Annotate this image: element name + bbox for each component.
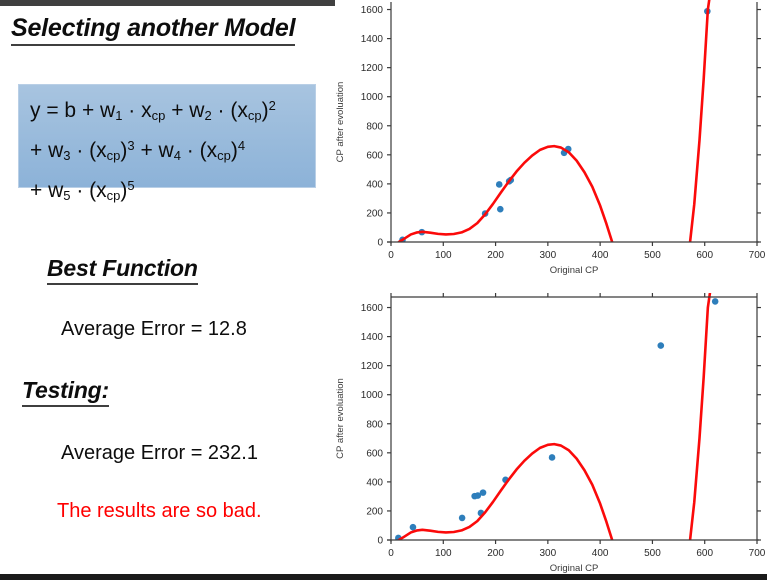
x-axis-label: Original CP: [550, 265, 599, 276]
training-chart: 0100200300400500600700020040060080010001…: [335, 0, 767, 285]
y-axis-label: CP after evoluation: [335, 378, 346, 459]
x-tick-label: 300: [540, 548, 557, 559]
y-tick-label: 1200: [361, 361, 384, 372]
training-chart-svg: 0100200300400500600700020040060080010001…: [335, 0, 767, 285]
page-title-text: Selecting another Model: [11, 14, 295, 42]
y-tick-label: 200: [366, 506, 383, 517]
x-tick-label: 0: [388, 548, 394, 559]
x-tick-label: 600: [696, 250, 713, 261]
best-function-underline: [47, 283, 198, 285]
y-tick-label: 200: [366, 208, 383, 219]
fit-curve: [399, 444, 612, 540]
y-tick-label: 1400: [361, 34, 384, 45]
x-tick-label: 500: [644, 250, 661, 261]
data-point: [657, 342, 664, 349]
formula-line-2: + w3 · (xcp)3 + w4 · (xcp)4: [30, 131, 276, 171]
model-formula-box: y = b + w1 · xcp + w2 · (xcp)2 + w3 · (x…: [18, 84, 316, 188]
x-tick-label: 100: [435, 250, 452, 261]
x-tick-label: 0: [388, 250, 394, 261]
best-function-heading-text: Best Function: [47, 255, 198, 281]
x-tick-label: 400: [592, 250, 609, 261]
y-axis-label: CP after evoluation: [335, 82, 346, 163]
x-tick-label: 500: [644, 548, 661, 559]
y-tick-label: 0: [377, 238, 383, 249]
x-tick-label: 400: [592, 548, 609, 559]
fit-curve: [399, 146, 612, 242]
data-point: [459, 515, 466, 522]
testing-chart: 0100200300400500600700020040060080010001…: [335, 285, 767, 574]
left-text-panel: Selecting another Model y = b + w1 · xcp…: [0, 6, 335, 574]
y-tick-label: 1400: [361, 332, 384, 343]
x-tick-label: 600: [696, 548, 713, 559]
x-axis-label: Original CP: [550, 563, 599, 574]
data-point: [410, 524, 417, 531]
x-tick-label: 200: [487, 548, 504, 559]
y-tick-label: 1000: [361, 390, 384, 401]
best-function-heading: Best Function: [47, 255, 198, 285]
y-tick-label: 800: [366, 121, 383, 132]
y-tick-label: 600: [366, 150, 383, 161]
x-tick-label: 700: [749, 548, 766, 559]
y-tick-label: 1600: [361, 5, 384, 16]
verdict-text: The results are so bad.: [57, 500, 262, 523]
data-point: [497, 206, 504, 213]
model-formula-text: y = b + w1 · xcp + w2 · (xcp)2 + w3 · (x…: [30, 91, 276, 211]
y-tick-label: 400: [366, 179, 383, 190]
y-tick-label: 800: [366, 419, 383, 430]
testing-heading: Testing:: [22, 377, 109, 407]
fit-curve: [690, 0, 710, 242]
x-tick-label: 300: [540, 250, 557, 261]
formula-line-3: + w5 · (xcp)5: [30, 171, 276, 211]
testing-underline: [22, 405, 109, 407]
page-title: Selecting another Model: [11, 14, 295, 46]
bottom-border-bar: [0, 574, 767, 580]
y-tick-label: 0: [377, 536, 383, 547]
y-tick-label: 1000: [361, 92, 384, 103]
data-point: [496, 181, 503, 188]
data-point: [712, 298, 719, 305]
y-tick-label: 400: [366, 477, 383, 488]
testing-heading-text: Testing:: [22, 377, 109, 403]
y-tick-label: 1600: [361, 303, 384, 314]
slide-canvas: Selecting another Model y = b + w1 · xcp…: [0, 0, 767, 580]
x-tick-label: 200: [487, 250, 504, 261]
y-tick-label: 600: [366, 448, 383, 459]
formula-line-1: y = b + w1 · xcp + w2 · (xcp)2: [30, 91, 276, 131]
training-average-error: Average Error = 12.8: [61, 318, 247, 341]
y-tick-label: 1200: [361, 63, 384, 74]
x-tick-label: 700: [749, 250, 766, 261]
fit-curve: [690, 293, 710, 540]
testing-average-error: Average Error = 232.1: [61, 442, 258, 465]
title-underline: [11, 44, 295, 46]
data-point: [549, 454, 556, 461]
x-tick-label: 100: [435, 548, 452, 559]
testing-chart-svg: 0100200300400500600700020040060080010001…: [335, 285, 767, 574]
data-point: [480, 489, 487, 496]
